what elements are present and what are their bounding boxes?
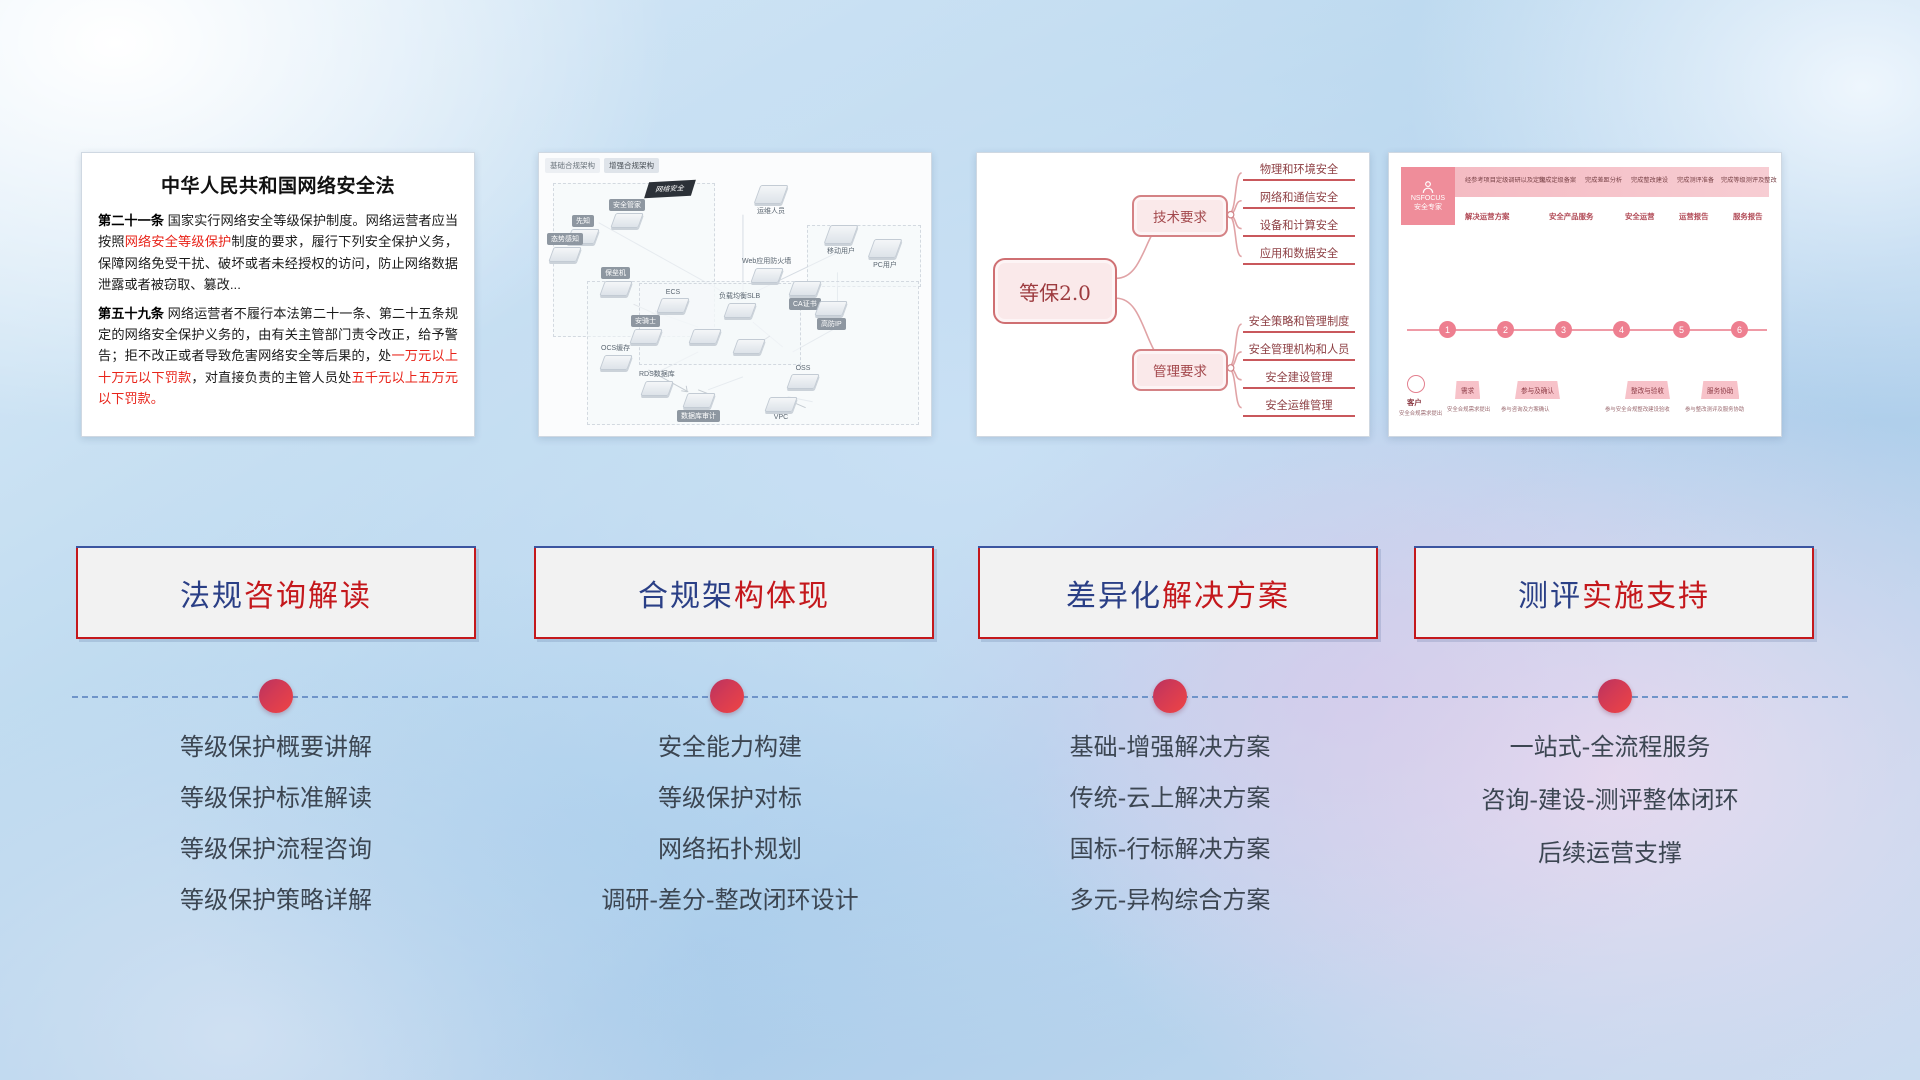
roadmap-axis <box>1407 329 1767 331</box>
list-item: 后续运营支撑 <box>1400 841 1820 865</box>
roadmap-caption-6: 完成等级测评及整改 <box>1721 175 1777 184</box>
law-title: 中华人民共和国网络安全法 <box>98 171 458 198</box>
feature-list-solution: 基础-增强解决方案 传统-云上解决方案 国标-行标解决方案 多元-异构综合方案 <box>960 735 1380 939</box>
mindmap-leaf-operations[interactable]: 安全运维管理 <box>1243 397 1355 417</box>
node-rds-database[interactable]: RDS数据库 <box>639 369 675 396</box>
roadmap-phase-3: 安全运营 <box>1625 211 1655 222</box>
page-root: 中华人民共和国网络安全法 第二十一条 国家实行网络安全等级保护制度。网络运营者应… <box>0 0 1920 1080</box>
architecture-diagram: 基础合规架构 增强合规架构 <box>539 153 931 436</box>
roadmap-step-1[interactable]: 1 <box>1439 321 1456 338</box>
section-header-regulation-text: 法规咨询解读 <box>180 571 372 615</box>
roadmap-caption-3: 完成差距分析 <box>1585 175 1622 184</box>
mindmap-leaf-physical[interactable]: 物理和环境安全 <box>1243 161 1355 181</box>
list-item: 一站式-全流程服务 <box>1400 735 1820 759</box>
law-article-59-label: 第五十九条 <box>98 306 164 321</box>
node-oss[interactable]: OSS <box>789 365 817 389</box>
list-item: 基础-增强解决方案 <box>960 735 1380 759</box>
section-header-regulation[interactable]: 法规咨询解读 <box>76 546 476 639</box>
list-item: 调研-差分-整改闭环设计 <box>520 888 940 912</box>
law-document: 中华人民共和国网络安全法 第二十一条 国家实行网络安全等级保护制度。网络运营者应… <box>82 153 474 436</box>
section-header-architecture[interactable]: 合规架构体现 <box>534 546 934 639</box>
roadmap-tag-4-sub: 参与整改测评及服务协助 <box>1685 405 1744 413</box>
list-item: 传统-云上解决方案 <box>960 786 1380 810</box>
node-security-butler[interactable]: 安全管家 <box>609 199 645 228</box>
roadmap-brand-name: NSFOCUS <box>1411 194 1445 203</box>
roadmap-caption-4: 完成整改建设 <box>1631 175 1668 184</box>
timeline-dot-2[interactable] <box>710 679 744 713</box>
roadmap-step-5[interactable]: 5 <box>1673 321 1690 338</box>
list-item: 多元-异构综合方案 <box>960 888 1380 912</box>
section-header-assessment-text: 测评实施支持 <box>1518 571 1710 615</box>
node-vpc[interactable]: VPC <box>767 397 795 421</box>
node-ops-personnel[interactable]: 运维人员 <box>757 185 785 216</box>
roadmap-tag-1-sub: 安全合规需求提出 <box>1447 405 1490 413</box>
mindmap-leaf-policy[interactable]: 安全策略和管理制度 <box>1243 313 1355 333</box>
node-ecs[interactable]: ECS <box>659 289 687 313</box>
roadmap-tag-2-sub: 参与咨询及方案确认 <box>1501 405 1550 413</box>
card-cybersecurity-law[interactable]: 中华人民共和国网络安全法 第二十一条 国家实行网络安全等级保护制度。网络运营者应… <box>81 152 475 437</box>
node-ecs-cluster[interactable] <box>691 329 719 344</box>
section-header-architecture-text: 合规架构体现 <box>638 571 830 615</box>
timeline-dot-1[interactable] <box>259 679 293 713</box>
mindmap-leaf-organization[interactable]: 安全管理机构和人员 <box>1243 341 1355 361</box>
roadmap-tag-2[interactable]: 参与及确认 <box>1515 381 1560 399</box>
card-compliance-architecture[interactable]: 基础合规架构 增强合规架构 <box>538 152 932 437</box>
list-item: 等级保护概要讲解 <box>66 735 486 759</box>
law-article-21: 第二十一条 国家实行网络安全等级保护制度。网络运营者应当按照网络安全等级保护制度… <box>98 210 458 296</box>
feature-list-architecture: 安全能力构建 等级保护对标 网络拓扑规划 调研-差分-整改闭环设计 <box>520 735 940 939</box>
mindmap: 等保2.0 技术要求 管理要求 物理和环境安全 网络和通信安全 设备和计算安全 … <box>977 153 1369 436</box>
node-ecs-cluster-2[interactable] <box>735 339 763 354</box>
list-item: 等级保护策略详解 <box>66 888 486 912</box>
customer-icon <box>1407 375 1425 393</box>
roadmap-caption-2: 完成定级备案 <box>1539 175 1576 184</box>
node-slb[interactable]: 负载均衡SLB <box>719 291 760 318</box>
list-item: 等级保护标准解读 <box>66 786 486 810</box>
list-item: 网络拓扑规划 <box>520 837 940 861</box>
node-anti-ddos-ip[interactable]: 高防IP <box>817 301 846 330</box>
timeline-dot-3[interactable] <box>1153 679 1187 713</box>
roadmap-brand: NSFOCUS 安全专家 <box>1401 167 1455 225</box>
mindmap-leaf-application[interactable]: 应用和数据安全 <box>1243 245 1355 265</box>
section-header-solution[interactable]: 差异化解决方案 <box>978 546 1378 639</box>
node-waf[interactable]: Web应用防火墙 <box>742 256 791 283</box>
node-ocs-cache[interactable]: OCS缓存 <box>601 343 630 370</box>
mindmap-leaf-network[interactable]: 网络和通信安全 <box>1243 189 1355 209</box>
roadmap-tag-1[interactable]: 需求 <box>1455 381 1480 399</box>
roadmap-phase-5: 服务报告 <box>1733 211 1763 222</box>
roadmap-tag-3[interactable]: 整改与验收 <box>1625 381 1670 399</box>
mindmap-branch-technical[interactable]: 技术要求 <box>1132 195 1228 237</box>
law-article-21-label: 第二十一条 <box>98 213 164 228</box>
list-item: 安全能力构建 <box>520 735 940 759</box>
node-mobile-user[interactable]: 移动用户 <box>827 225 855 256</box>
law-article-59-text-b: ，对直接负责的主管人员处 <box>191 370 351 385</box>
service-roadmap: NSFOCUS 安全专家 经参考项目定级调研以及定级 完成定级备案 完成差距分析… <box>1389 153 1781 436</box>
node-bastion-host[interactable]: 保垒机 <box>601 267 630 296</box>
architecture-banner: 网络安全 <box>644 180 696 198</box>
list-item: 国标-行标解决方案 <box>960 837 1380 861</box>
roadmap-tag-3-sub: 参与安全合规整改建设验收 <box>1605 405 1670 413</box>
roadmap-brand-sub: 安全专家 <box>1414 203 1442 212</box>
node-ca-certificate[interactable]: CA证书 <box>789 281 821 310</box>
node-situation-awareness[interactable]: 态势感知 <box>547 233 583 262</box>
node-database-audit[interactable]: 数据库审计 <box>677 393 720 422</box>
mindmap-root[interactable]: 等保2.0 <box>993 258 1117 324</box>
feature-list-assessment: 一站式-全流程服务 咨询-建设-测评整体闭环 后续运营支撑 <box>1400 735 1820 894</box>
preview-cards-row: 中华人民共和国网络安全法 第二十一条 国家实行网络安全等级保护制度。网络运营者应… <box>0 152 1920 442</box>
mindmap-leaf-construction[interactable]: 安全建设管理 <box>1243 369 1355 389</box>
roadmap-step-2[interactable]: 2 <box>1497 321 1514 338</box>
list-item: 等级保护对标 <box>520 786 940 810</box>
roadmap-step-3[interactable]: 3 <box>1555 321 1572 338</box>
roadmap-phase-4: 运营报告 <box>1679 211 1709 222</box>
card-service-roadmap[interactable]: NSFOCUS 安全专家 经参考项目定级调研以及定级 完成定级备案 完成差距分析… <box>1388 152 1782 437</box>
timeline-dashed-line <box>72 696 1848 698</box>
expert-icon <box>1421 180 1435 194</box>
roadmap-phase-1: 解决运营方案 <box>1465 211 1509 222</box>
roadmap-caption-5: 完成测评准备 <box>1677 175 1714 184</box>
roadmap-customer-sub: 安全合规需求提出 <box>1399 409 1442 417</box>
roadmap-step-6[interactable]: 6 <box>1731 321 1748 338</box>
mindmap-leaf-device[interactable]: 设备和计算安全 <box>1243 217 1355 237</box>
node-anqishi[interactable]: 安骑士 <box>631 315 660 344</box>
section-header-solution-text: 差异化解决方案 <box>1066 571 1290 615</box>
card-mbps-mindmap[interactable]: 等保2.0 技术要求 管理要求 物理和环境安全 网络和通信安全 设备和计算安全 … <box>976 152 1370 437</box>
node-pc-user[interactable]: PC用户 <box>871 239 899 270</box>
roadmap-customer-label: 客户 <box>1407 397 1422 408</box>
timeline-dot-4[interactable] <box>1598 679 1632 713</box>
law-article-59: 第五十九条 网络运营者不履行本法第二十一条、第二十五条规定的网络安全保护义务的，… <box>98 303 458 410</box>
roadmap-tag-4[interactable]: 服务协助 <box>1701 381 1739 399</box>
roadmap-caption-1: 经参考项目定级调研以及定级 <box>1465 175 1545 184</box>
list-item: 咨询-建设-测评整体闭环 <box>1400 788 1820 812</box>
law-article-21-highlight: 网络安全等级保护 <box>125 234 232 249</box>
mindmap-branch-management[interactable]: 管理要求 <box>1132 349 1228 391</box>
list-item: 等级保护流程咨询 <box>66 837 486 861</box>
roadmap-step-4[interactable]: 4 <box>1613 321 1630 338</box>
section-header-assessment[interactable]: 测评实施支持 <box>1414 546 1814 639</box>
roadmap-phase-2: 安全产品服务 <box>1549 211 1593 222</box>
feature-list-regulation: 等级保护概要讲解 等级保护标准解读 等级保护流程咨询 等级保护策略详解 <box>66 735 486 939</box>
